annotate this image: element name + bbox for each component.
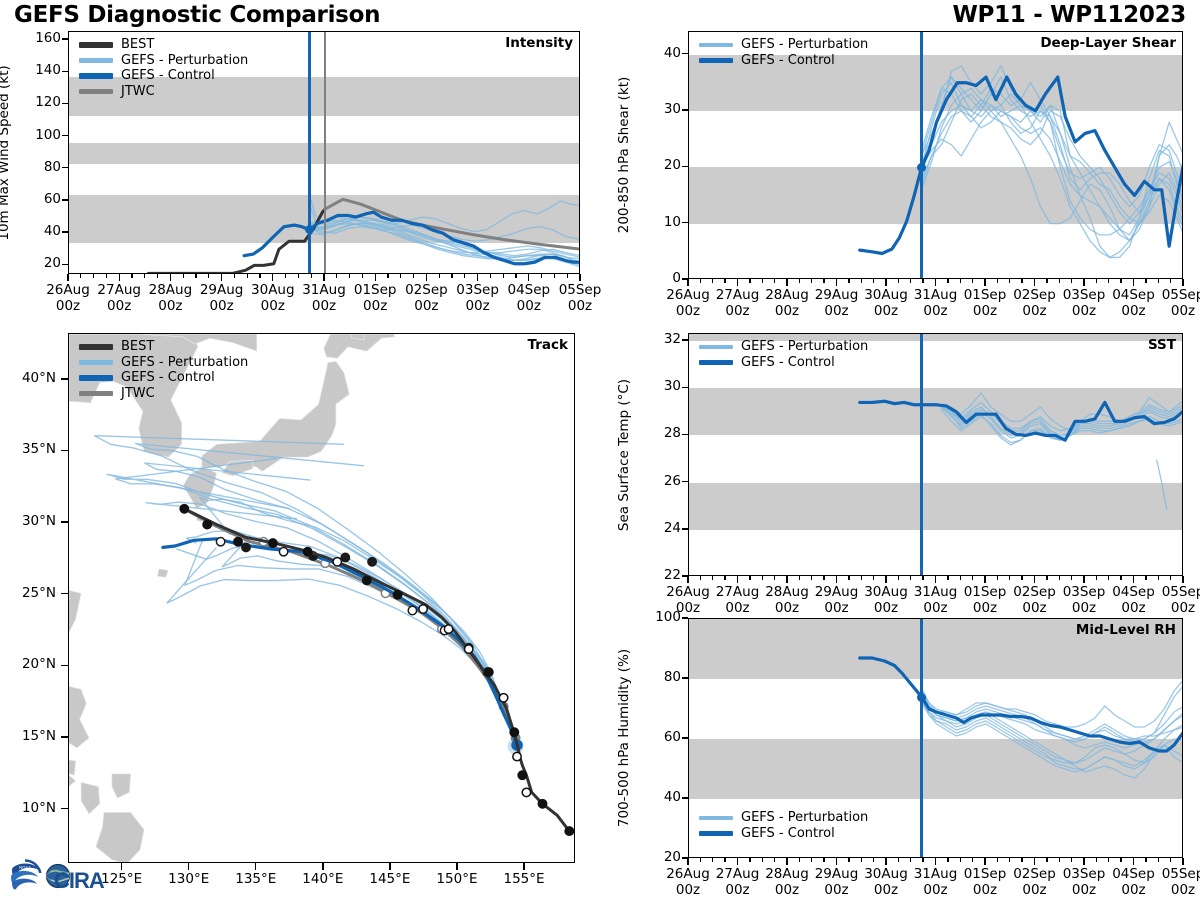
track-point-marker: [269, 539, 277, 547]
legend-swatch: [699, 58, 733, 64]
sst-xtick-minor: [1009, 576, 1010, 580]
rh-xtick-minor: [749, 858, 750, 862]
control-init-marker: [917, 163, 926, 172]
rh-panel-title: Mid-Level RH: [1076, 622, 1176, 638]
sst-xtick-mark: [687, 576, 688, 583]
track-point-marker: [485, 668, 493, 676]
intensity-xtick-minor: [567, 274, 568, 278]
track-lat-tick: [61, 665, 68, 666]
sst-ytick-label: 26: [640, 473, 681, 489]
shear-xtick-minor: [960, 279, 961, 283]
legend-entry: JTWC: [79, 84, 248, 100]
sst-xtick-mark: [836, 576, 837, 583]
intensity-xtick-label: 04Sep00z: [485, 283, 573, 314]
intensity-xtick-label: 03Sep00z: [434, 283, 522, 314]
legend-entry: GEFS - Control: [699, 53, 868, 69]
sst-xtick-mark: [737, 576, 738, 583]
sst-xtick-mark: [1182, 576, 1183, 583]
shear-y-axis-label: 200-850 hPa Shear (kt): [616, 77, 632, 234]
shear-xtick-minor: [1046, 279, 1047, 283]
legend-label: GEFS - Perturbation: [121, 355, 248, 370]
track-lat-label: 15°N: [8, 728, 56, 744]
intensity-xtick-minor: [451, 274, 452, 278]
track-point-marker: [538, 800, 546, 808]
sst-xtick-minor: [848, 576, 849, 580]
intensity-xtick-label: 01Sep00z: [331, 283, 419, 314]
page-title: GEFS Diagnostic Comparison: [14, 2, 380, 28]
legend-entry: GEFS - Perturbation: [79, 355, 248, 371]
rh-xtick-mark: [836, 858, 837, 865]
rh-xtick-minor: [947, 858, 948, 862]
intensity-xtick-minor: [93, 274, 94, 278]
storm-title: WP11 - WP112023: [952, 2, 1186, 28]
rh-xtick-minor: [1158, 858, 1159, 862]
rh-xtick-minor: [910, 858, 911, 862]
sst-ytick-label: 30: [640, 378, 681, 394]
track-point-marker: [565, 827, 573, 835]
coastline-polygon: [68, 775, 76, 832]
legend-entry: GEFS - Control: [699, 355, 868, 371]
noaa-cira-logo: NOAA CIRA: [6, 856, 134, 896]
sst-ytick-label: 28: [640, 425, 681, 441]
track-map-layer: [69, 334, 575, 863]
intensity-xtick-minor: [439, 274, 440, 278]
intensity-panel-title: Intensity: [505, 35, 573, 51]
init-time-line-gefs: [308, 32, 311, 273]
rh-xtick-label: 02Sep00z: [991, 867, 1079, 898]
track-point-marker: [216, 538, 224, 546]
legend-entry: BEST: [79, 37, 248, 53]
rh-xtick-minor: [1009, 858, 1010, 862]
legend-label: GEFS - Perturbation: [121, 53, 248, 68]
shear-ytick-label: 40: [640, 45, 681, 61]
sst-xtick-minor: [823, 576, 824, 580]
intensity-ytick-label: 160: [20, 30, 61, 46]
sst-legend: GEFS - PerturbationGEFS - Control: [699, 339, 868, 370]
shear-xtick-mark: [836, 279, 837, 286]
intensity-xtick-minor: [464, 274, 465, 278]
legend-swatch: [79, 344, 113, 350]
intensity-xtick-label: 02Sep00z: [382, 283, 470, 314]
track-lon-tick: [389, 863, 390, 870]
intensity-ytick-label: 40: [20, 223, 61, 239]
intensity-legend: BESTGEFS - PerturbationGEFS - ControlJTW…: [79, 37, 248, 99]
shear-xtick-minor: [1170, 279, 1171, 283]
shear-xtick-minor: [922, 279, 923, 283]
cira-logo: CIRA: [47, 865, 105, 894]
sst-xtick-minor: [1046, 576, 1047, 580]
sst-xtick-minor: [922, 576, 923, 580]
track-point-marker: [518, 771, 526, 779]
shear-xtick-minor: [947, 279, 948, 283]
control-init-marker: [917, 693, 926, 702]
svg-text:CIRA: CIRA: [54, 868, 105, 893]
shear-xtick-minor: [823, 279, 824, 283]
coastline-polygon: [68, 686, 89, 748]
intensity-xtick-minor: [247, 274, 248, 278]
shear-xtick-mark: [885, 279, 886, 286]
intensity-y-axis-label: 10m Max Wind Speed (kt): [0, 65, 12, 240]
track-lat-label: 40°N: [8, 370, 56, 386]
sst-xtick-minor: [799, 576, 800, 580]
rh-xtick-minor: [1145, 858, 1146, 862]
legend-entry: JTWC: [79, 386, 248, 402]
series-line: [922, 697, 1183, 778]
sst-series-layer: [689, 334, 1183, 576]
intensity-xtick-minor: [503, 274, 504, 278]
rh-xtick-label: 05Sep00z: [1139, 867, 1200, 898]
intensity-xtick-minor: [400, 274, 401, 278]
shear-xtick-minor: [1145, 279, 1146, 283]
sst-xtick-mark: [1133, 576, 1134, 583]
sst-xtick-label: 28Aug00z: [743, 585, 831, 616]
shear-xtick-minor: [1021, 279, 1022, 283]
track-point-marker: [499, 694, 507, 702]
sst-xtick-label: 05Sep00z: [1139, 585, 1200, 616]
shear-xtick-minor: [774, 279, 775, 283]
intensity-xtick-minor: [195, 274, 196, 278]
rh-xtick-mark: [1182, 858, 1183, 865]
series-line: [922, 94, 1183, 224]
legend-label: GEFS - Control: [741, 826, 835, 841]
rh-xtick-label: 31Aug00z: [892, 867, 980, 898]
sst-y-axis-label: Sea Surface Temp (°C): [616, 378, 632, 530]
sst-xtick-label: 02Sep00z: [991, 585, 1079, 616]
intensity-xtick-mark: [170, 274, 171, 281]
intensity-xtick-label: 30Aug00z: [229, 283, 317, 314]
legend-swatch: [699, 360, 733, 366]
rh-xtick-minor: [774, 858, 775, 862]
track-lat-tick: [61, 593, 68, 594]
sst-xtick-label: 26Aug00z: [644, 585, 732, 616]
track-lon-label: 150°E: [417, 872, 497, 888]
shear-xtick-mark: [1034, 279, 1035, 286]
shear-xtick-mark: [1182, 279, 1183, 286]
rh-xtick-minor: [1021, 858, 1022, 862]
legend-label: GEFS - Control: [741, 355, 835, 370]
legend-entry: GEFS - Perturbation: [699, 37, 868, 53]
shear-xtick-label: 03Sep00z: [1040, 288, 1128, 319]
legend-label: BEST: [121, 339, 154, 354]
rh-xtick-label: 04Sep00z: [1090, 867, 1178, 898]
rh-xtick-mark: [935, 858, 936, 865]
rh-xtick-mark: [737, 858, 738, 865]
legend-entry: GEFS - Perturbation: [699, 339, 868, 355]
intensity-xtick-label: 29Aug00z: [178, 283, 266, 314]
legend-swatch: [699, 345, 733, 350]
rh-xtick-minor: [724, 858, 725, 862]
legend-label: JTWC: [121, 84, 155, 99]
intensity-xtick-minor: [541, 274, 542, 278]
track-lon-label: 145°E: [350, 872, 430, 888]
shear-xtick-minor: [762, 279, 763, 283]
sst-xtick-mark: [984, 576, 985, 583]
track-lon-tick: [188, 863, 189, 870]
shear-xtick-mark: [1133, 279, 1134, 286]
rh-xtick-label: 30Aug00z: [842, 867, 930, 898]
intensity-xtick-minor: [259, 274, 260, 278]
rh-xtick-minor: [960, 858, 961, 862]
sst-xtick-minor: [749, 576, 750, 580]
track-point-marker: [465, 645, 473, 653]
legend-label: GEFS - Control: [741, 53, 835, 68]
track-point-marker: [408, 606, 416, 614]
sst-xtick-minor: [898, 576, 899, 580]
rh-xtick-minor: [873, 858, 874, 862]
track-lon-label: 140°E: [283, 872, 363, 888]
shear-xtick-label: 28Aug00z: [743, 288, 831, 319]
track-point-marker: [333, 558, 341, 566]
intensity-xtick-label: 26Aug00z: [24, 283, 112, 314]
track-point-marker: [510, 728, 518, 736]
shear-xtick-minor: [749, 279, 750, 283]
sst-xtick-minor: [762, 576, 763, 580]
shear-xtick-label: 01Sep00z: [941, 288, 1029, 319]
intensity-ytick-label: 20: [20, 255, 61, 271]
intensity-xtick-minor: [362, 274, 363, 278]
sst-xtick-label: 04Sep00z: [1090, 585, 1178, 616]
intensity-xtick-minor: [80, 274, 81, 278]
legend-label: GEFS - Perturbation: [741, 339, 868, 354]
sst-xtick-minor: [811, 576, 812, 580]
shear-xtick-minor: [997, 279, 998, 283]
shear-xtick-label: 27Aug00z: [694, 288, 782, 319]
intensity-xtick-minor: [311, 274, 312, 278]
shear-xtick-minor: [861, 279, 862, 283]
intensity-xtick-minor: [183, 274, 184, 278]
sst-xtick-label: 29Aug00z: [793, 585, 881, 616]
rh-xtick-mark: [687, 858, 688, 865]
shear-ytick-label: 0: [640, 270, 681, 286]
shear-ytick-label: 30: [640, 101, 681, 117]
shear-xtick-mark: [935, 279, 936, 286]
init-time-line-gefs: [920, 619, 923, 857]
shear-xtick-mark: [786, 279, 787, 286]
legend-label: GEFS - Perturbation: [741, 37, 868, 52]
legend-swatch: [79, 73, 113, 79]
rh-xtick-mark: [1083, 858, 1084, 865]
shear-xtick-label: 04Sep00z: [1090, 288, 1178, 319]
rh-ytick-label: 20: [640, 849, 681, 865]
track-panel-title: Track: [528, 337, 568, 353]
rh-xtick-minor: [1096, 858, 1097, 862]
track-lon-label: 135°E: [216, 872, 296, 888]
rh-legend: GEFS - PerturbationGEFS - Control: [699, 810, 868, 841]
sst-xtick-label: 30Aug00z: [842, 585, 930, 616]
legend-entry: GEFS - Control: [79, 370, 248, 386]
track-point-marker: [419, 605, 427, 613]
series-line: [1157, 460, 1167, 510]
shear-xtick-minor: [848, 279, 849, 283]
rh-xtick-minor: [712, 858, 713, 862]
svg-text:NOAA: NOAA: [19, 865, 31, 870]
sst-xtick-minor: [997, 576, 998, 580]
rh-xtick-label: 27Aug00z: [694, 867, 782, 898]
rh-xtick-mark: [1034, 858, 1035, 865]
track-legend: BESTGEFS - PerturbationGEFS - ControlJTW…: [79, 339, 248, 401]
sst-xtick-minor: [1071, 576, 1072, 580]
rh-xtick-label: 26Aug00z: [644, 867, 732, 898]
track-lat-label: 20°N: [8, 656, 56, 672]
legend-entry: BEST: [79, 339, 248, 355]
track-lon-tick: [456, 863, 457, 870]
track-point-marker: [393, 591, 401, 599]
rh-y-axis-label: 700-500 hPa Humidity (%): [616, 649, 632, 827]
sst-xtick-minor: [972, 576, 973, 580]
shear-xtick-minor: [1096, 279, 1097, 283]
intensity-xtick-label: 31Aug00z: [280, 283, 368, 314]
intensity-xtick-minor: [490, 274, 491, 278]
rh-xtick-mark: [1133, 858, 1134, 865]
track-lat-tick: [61, 521, 68, 522]
legend-swatch: [79, 375, 113, 381]
rh-ytick-label: 100: [640, 609, 681, 625]
intensity-xtick-mark: [528, 274, 529, 281]
sst-xtick-minor: [712, 576, 713, 580]
sst-xtick-mark: [786, 576, 787, 583]
sst-xtick-minor: [873, 576, 874, 580]
shear-xtick-label: 30Aug00z: [842, 288, 930, 319]
coastline-polygon: [68, 759, 76, 775]
rh-xtick-minor: [700, 858, 701, 862]
intensity-xtick-mark: [579, 274, 580, 281]
track-point-marker: [368, 558, 376, 566]
rh-xtick-minor: [1046, 858, 1047, 862]
init-time-line-gefs: [920, 32, 923, 278]
legend-swatch: [79, 42, 113, 48]
track-point-marker: [242, 543, 250, 551]
track-point-marker: [279, 548, 287, 556]
intensity-xtick-minor: [131, 274, 132, 278]
shear-xtick-minor: [910, 279, 911, 283]
shear-xtick-minor: [700, 279, 701, 283]
legend-entry: GEFS - Perturbation: [699, 810, 868, 826]
coastline-polygon: [158, 569, 169, 578]
intensity-xtick-minor: [387, 274, 388, 278]
intensity-ytick-label: 120: [20, 94, 61, 110]
intensity-xtick-minor: [234, 274, 235, 278]
rh-xtick-label: 29Aug00z: [793, 867, 881, 898]
shear-xtick-label: 26Aug00z: [644, 288, 732, 319]
legend-swatch: [699, 43, 733, 48]
ensemble-track: [107, 474, 517, 745]
legend-swatch: [79, 89, 113, 95]
legend-swatch: [79, 58, 113, 63]
legend-entry: GEFS - Perturbation: [79, 53, 248, 69]
sst-xtick-label: 31Aug00z: [892, 585, 980, 616]
init-time-line-gefs: [920, 334, 923, 575]
shear-xtick-minor: [1009, 279, 1010, 283]
shear-ytick-label: 20: [640, 157, 681, 173]
track-point-marker: [203, 520, 211, 528]
shear-xtick-minor: [1158, 279, 1159, 283]
shear-xtick-mark: [737, 279, 738, 286]
rh-xtick-minor: [811, 858, 812, 862]
shear-panel-title: Deep-Layer Shear: [1040, 35, 1176, 51]
shear-xtick-label: 29Aug00z: [793, 288, 881, 319]
intensity-xtick-label: 28Aug00z: [126, 283, 214, 314]
rh-xtick-minor: [922, 858, 923, 862]
sst-xtick-minor: [1059, 576, 1060, 580]
ensemble-track: [95, 436, 518, 745]
sst-xtick-minor: [1108, 576, 1109, 580]
track-plot-area: TrackBESTGEFS - PerturbationGEFS - Contr…: [68, 333, 575, 863]
legend-swatch: [699, 816, 733, 821]
rh-xtick-minor: [997, 858, 998, 862]
sst-xtick-minor: [947, 576, 948, 580]
sst-xtick-minor: [700, 576, 701, 580]
rh-xtick-minor: [848, 858, 849, 862]
track-lat-label: 35°N: [8, 441, 56, 457]
rh-xtick-minor: [972, 858, 973, 862]
sst-ytick-label: 32: [640, 331, 681, 347]
legend-label: BEST: [121, 37, 154, 52]
track-point-marker: [522, 788, 530, 796]
series-line: [922, 83, 1183, 213]
shear-xtick-minor: [1108, 279, 1109, 283]
intensity-xtick-minor: [144, 274, 145, 278]
sst-xtick-mark: [1083, 576, 1084, 583]
intensity-xtick-label: 27Aug00z: [75, 283, 163, 314]
intensity-xtick-mark: [477, 274, 478, 281]
shear-xtick-minor: [811, 279, 812, 283]
rh-xtick-label: 28Aug00z: [743, 867, 831, 898]
sst-ytick-label: 22: [640, 567, 681, 583]
series-line: [922, 77, 1183, 207]
sst-xtick-minor: [910, 576, 911, 580]
rh-xtick-minor: [1108, 858, 1109, 862]
rh-xtick-mark: [786, 858, 787, 865]
rh-ytick-label: 60: [640, 729, 681, 745]
ensemble-track: [116, 459, 517, 745]
shear-xtick-label: 02Sep00z: [991, 288, 1079, 319]
intensity-xtick-minor: [515, 274, 516, 278]
legend-label: GEFS - Perturbation: [741, 810, 868, 825]
legend-entry: GEFS - Control: [699, 826, 868, 842]
legend-label: JTWC: [121, 386, 155, 401]
shear-xtick-minor: [799, 279, 800, 283]
track-point-marker: [363, 576, 371, 584]
noaa-logo: NOAA: [8, 859, 43, 894]
sst-xtick-minor: [1096, 576, 1097, 580]
shear-xtick-minor: [972, 279, 973, 283]
track-lat-label: 25°N: [8, 585, 56, 601]
legend-label: GEFS - Control: [121, 68, 215, 83]
rh-xtick-mark: [984, 858, 985, 865]
intensity-xtick-minor: [106, 274, 107, 278]
sst-xtick-minor: [1170, 576, 1171, 580]
series-line: [922, 685, 1183, 739]
intensity-xtick-mark: [375, 274, 376, 281]
sst-xtick-mark: [1034, 576, 1035, 583]
legend-label: GEFS - Control: [121, 370, 215, 385]
track-point-marker: [513, 752, 521, 760]
track-lat-label: 10°N: [8, 800, 56, 816]
intensity-xtick-minor: [208, 274, 209, 278]
shear-xtick-mark: [1083, 279, 1084, 286]
track-point-marker: [341, 553, 349, 561]
track-lon-tick: [322, 863, 323, 870]
sst-ytick-label: 24: [640, 520, 681, 536]
legend-swatch: [79, 391, 113, 397]
rh-xtick-minor: [823, 858, 824, 862]
rh-ytick-label: 80: [640, 669, 681, 685]
series-line: [941, 393, 1183, 431]
shear-xtick-label: 31Aug00z: [892, 288, 980, 319]
sst-xtick-mark: [935, 576, 936, 583]
track-lat-tick: [61, 736, 68, 737]
sst-panel-title: SST: [1148, 337, 1176, 353]
